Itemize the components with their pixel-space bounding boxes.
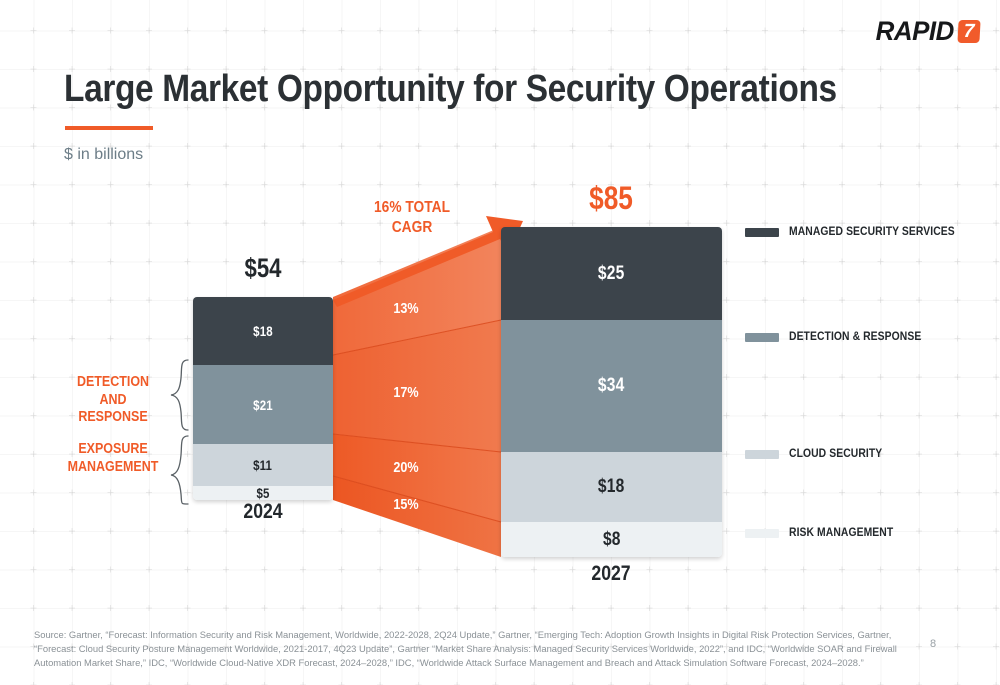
grouping-label-detection-l2: RESPONSE (66, 409, 161, 427)
segment-value-2027-risk-management: $8 (603, 529, 621, 551)
segment-2024-detection-response[interactable]: $21 (193, 365, 333, 444)
cagr-label-managed-security-services: 13% (381, 300, 431, 317)
total-2027: $85 (562, 180, 660, 217)
legend-item-managed-security-services[interactable]: MANAGED SECURITY SERVICES (745, 226, 973, 238)
legend-item-risk-management[interactable]: RISK MANAGEMENT (745, 527, 905, 539)
cagr-label-detection-response: 17% (381, 384, 431, 401)
legend-swatch-detection-response (745, 333, 779, 342)
legend-swatch-cloud-security (745, 450, 779, 459)
slide-canvas: RAPID 7 Large Market Opportunity for Sec… (0, 0, 1000, 685)
segment-2027-detection-response[interactable]: $34 (501, 320, 722, 452)
segment-2024-managed-security-services[interactable]: $18 (193, 297, 333, 365)
total-cagr-annotation: 16% TOTAL CAGR (360, 198, 463, 239)
total-cagr-line2: CAGR (360, 218, 463, 238)
segment-value-2027-cloud-security: $18 (598, 476, 624, 498)
legend-label-cloud-security: CLOUD SECURITY (789, 448, 882, 460)
segment-value-2024-detection-response: $21 (253, 397, 273, 413)
segment-2027-risk-management[interactable]: $8 (501, 522, 722, 557)
legend-label-risk-management: RISK MANAGEMENT (789, 527, 893, 539)
cagr-label-cloud-security: 20% (381, 459, 431, 476)
grouping-label-detection-l1: DETECTION AND (66, 374, 161, 409)
page-number: 8 (930, 638, 936, 650)
bar-2027[interactable]: $25 $34 $18 $8 (501, 227, 722, 557)
legend-swatch-risk-management (745, 529, 779, 538)
grouping-label-exposure-l1: EXPOSURE (66, 441, 161, 459)
total-2024: $54 (214, 253, 312, 284)
legend-label-detection-response: DETECTION & RESPONSE (789, 331, 921, 343)
segment-2027-managed-security-services[interactable]: $25 (501, 227, 722, 320)
segment-2024-risk-management[interactable]: $5 (193, 486, 333, 500)
grouping-label-exposure-l2: MANAGEMENT (66, 459, 161, 477)
segment-2024-cloud-security[interactable]: $11 (193, 444, 333, 486)
axis-label-2024: 2024 (213, 500, 314, 524)
cagr-label-risk-management: 15% (381, 496, 431, 513)
legend-swatch-managed-security-services (745, 228, 779, 237)
legend-item-cloud-security[interactable]: CLOUD SECURITY (745, 448, 893, 460)
axis-label-2027: 2027 (561, 562, 662, 586)
grouping-label-exposure-management: EXPOSURE MANAGEMENT (66, 441, 161, 476)
segment-2027-cloud-security[interactable]: $18 (501, 452, 722, 522)
segment-value-2024-managed-security-services: $18 (253, 323, 273, 339)
segment-value-2027-managed-security-services: $25 (598, 263, 624, 285)
grouping-braces (168, 358, 192, 506)
legend-label-managed-security-services: MANAGED SECURITY SERVICES (789, 226, 955, 238)
grouping-label-detection-and-response: DETECTION AND RESPONSE (66, 374, 161, 427)
segment-value-2024-cloud-security: $11 (253, 457, 272, 473)
bar-2024[interactable]: $18 $21 $11 $5 (193, 297, 333, 500)
source-citation: Source: Gartner, “Forecast: Information … (34, 628, 914, 670)
segment-value-2027-detection-response: $34 (598, 375, 624, 397)
segment-value-2024-risk-management: $5 (256, 485, 269, 500)
total-cagr-line1: 16% TOTAL (360, 198, 463, 218)
legend-item-detection-response[interactable]: DETECTION & RESPONSE (745, 331, 936, 343)
